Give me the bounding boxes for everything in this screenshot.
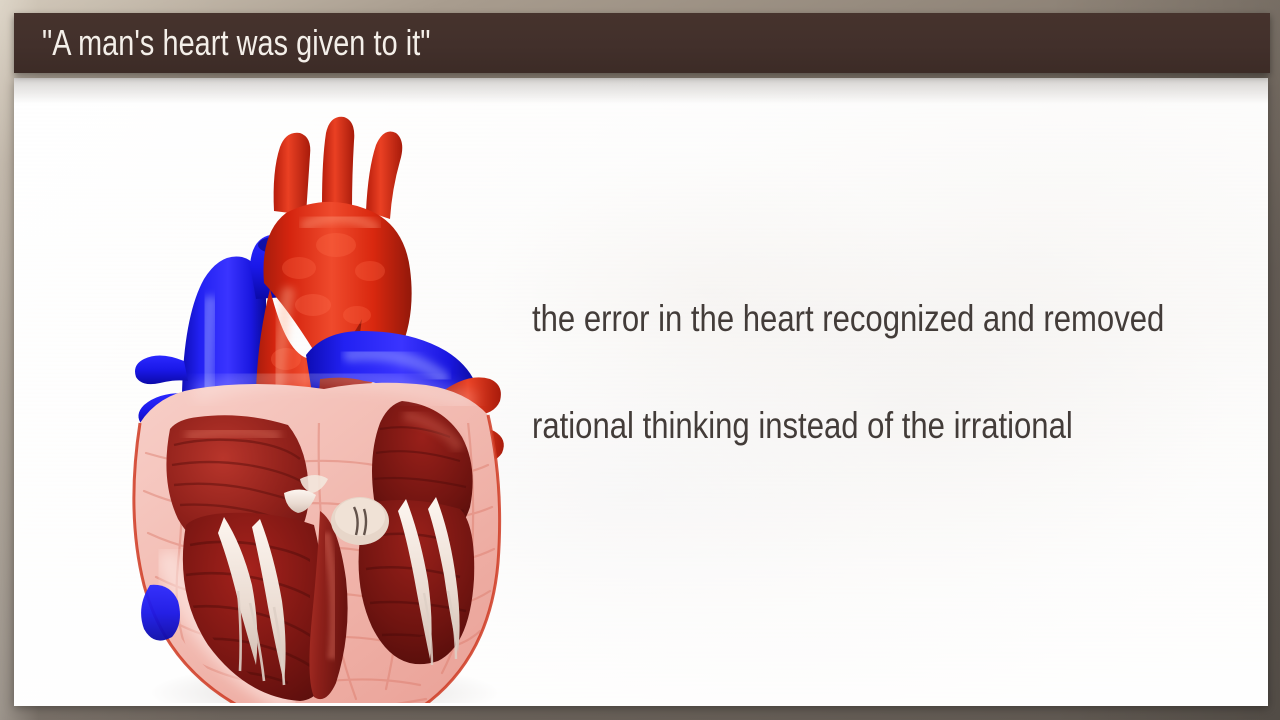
left-subclavian — [366, 132, 402, 220]
body-text: the error in the heart recognized and re… — [532, 300, 1268, 444]
heart-illustration — [74, 93, 534, 703]
slide: "A man's heart was given to it" — [0, 0, 1280, 720]
slide-title: "A man's heart was given to it" — [42, 25, 528, 61]
slide-content-panel: the error in the heart recognized and re… — [14, 78, 1268, 706]
body-line-1-text: the error in the heart recognized and re… — [532, 300, 1164, 337]
brachiocephalic-trunk — [274, 133, 311, 215]
slide-title-text: "A man's heart was given to it" — [42, 25, 431, 61]
body-line-1: the error in the heart recognized and re… — [532, 300, 1268, 337]
left-common-carotid — [322, 117, 354, 209]
slide-title-bar: "A man's heart was given to it" — [14, 13, 1270, 73]
body-line-2: rational thinking instead of the irratio… — [532, 407, 1268, 444]
body-line-2-text: rational thinking instead of the irratio… — [532, 407, 1073, 444]
papillary-muscle — [331, 497, 389, 545]
vein-branch-upper — [135, 355, 188, 384]
